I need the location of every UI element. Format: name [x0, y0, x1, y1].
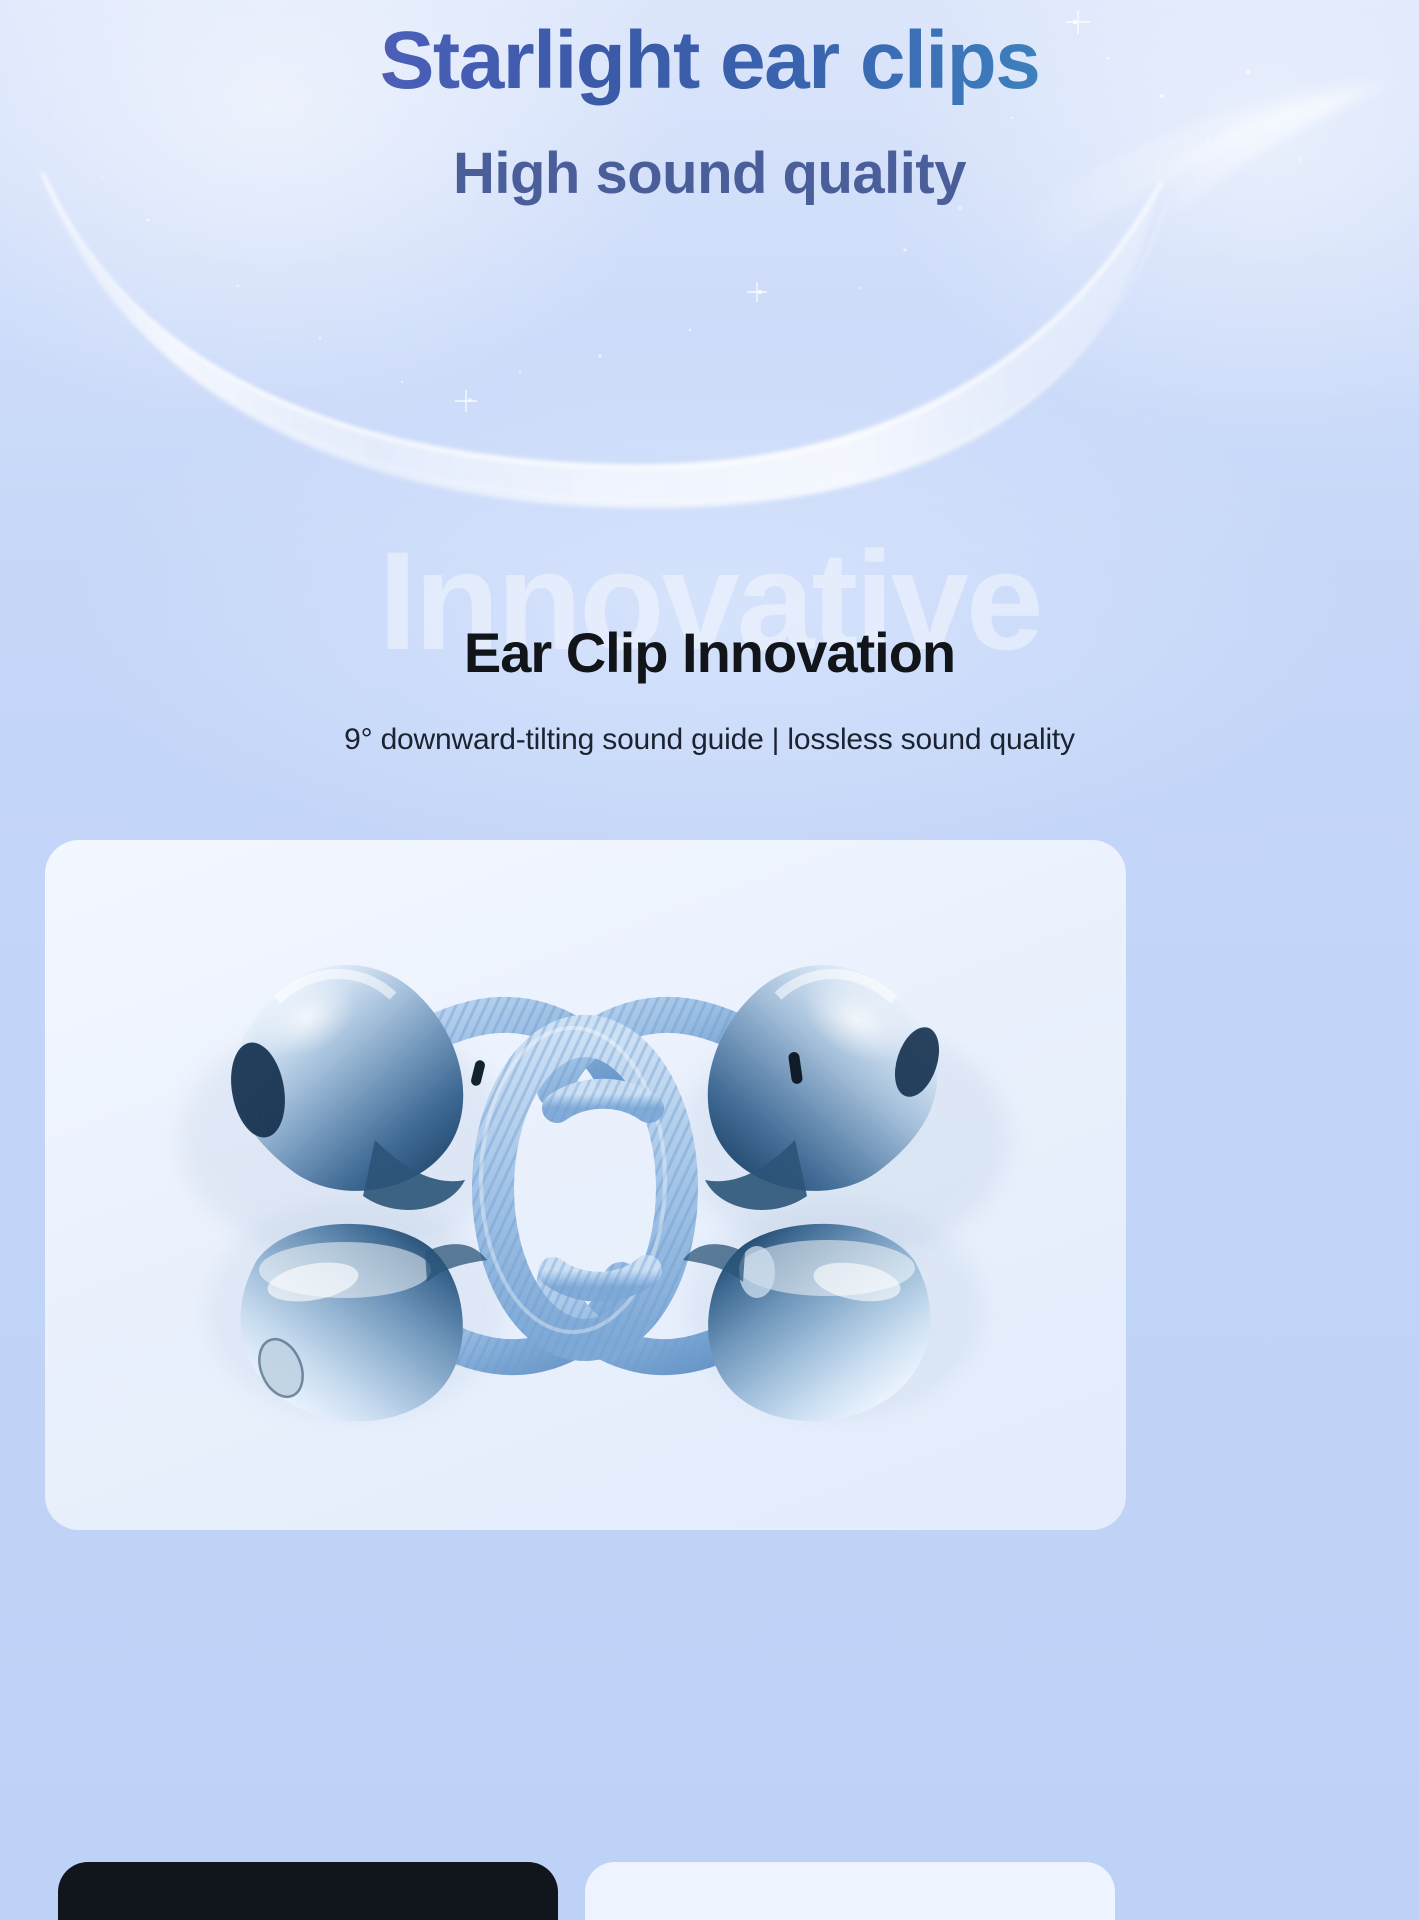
next-section-card-light [585, 1862, 1115, 1920]
ribbon-swoosh-decoration [0, 60, 1419, 540]
earbud-bottom-right [683, 1224, 930, 1421]
earbuds-product-illustration [45, 840, 1126, 1530]
next-section-card-dark [58, 1862, 558, 1920]
product-detail-page: Starlight ear clips High sound quality I… [0, 0, 1419, 1920]
section-subtitle: 9° downward-tilting sound guide | lossle… [0, 723, 1419, 757]
page-subtitle: High sound quality [0, 140, 1419, 207]
section-title: Ear Clip Innovation [0, 620, 1419, 685]
product-image-card [45, 840, 1126, 1530]
page-title: Starlight ear clips [0, 17, 1419, 106]
